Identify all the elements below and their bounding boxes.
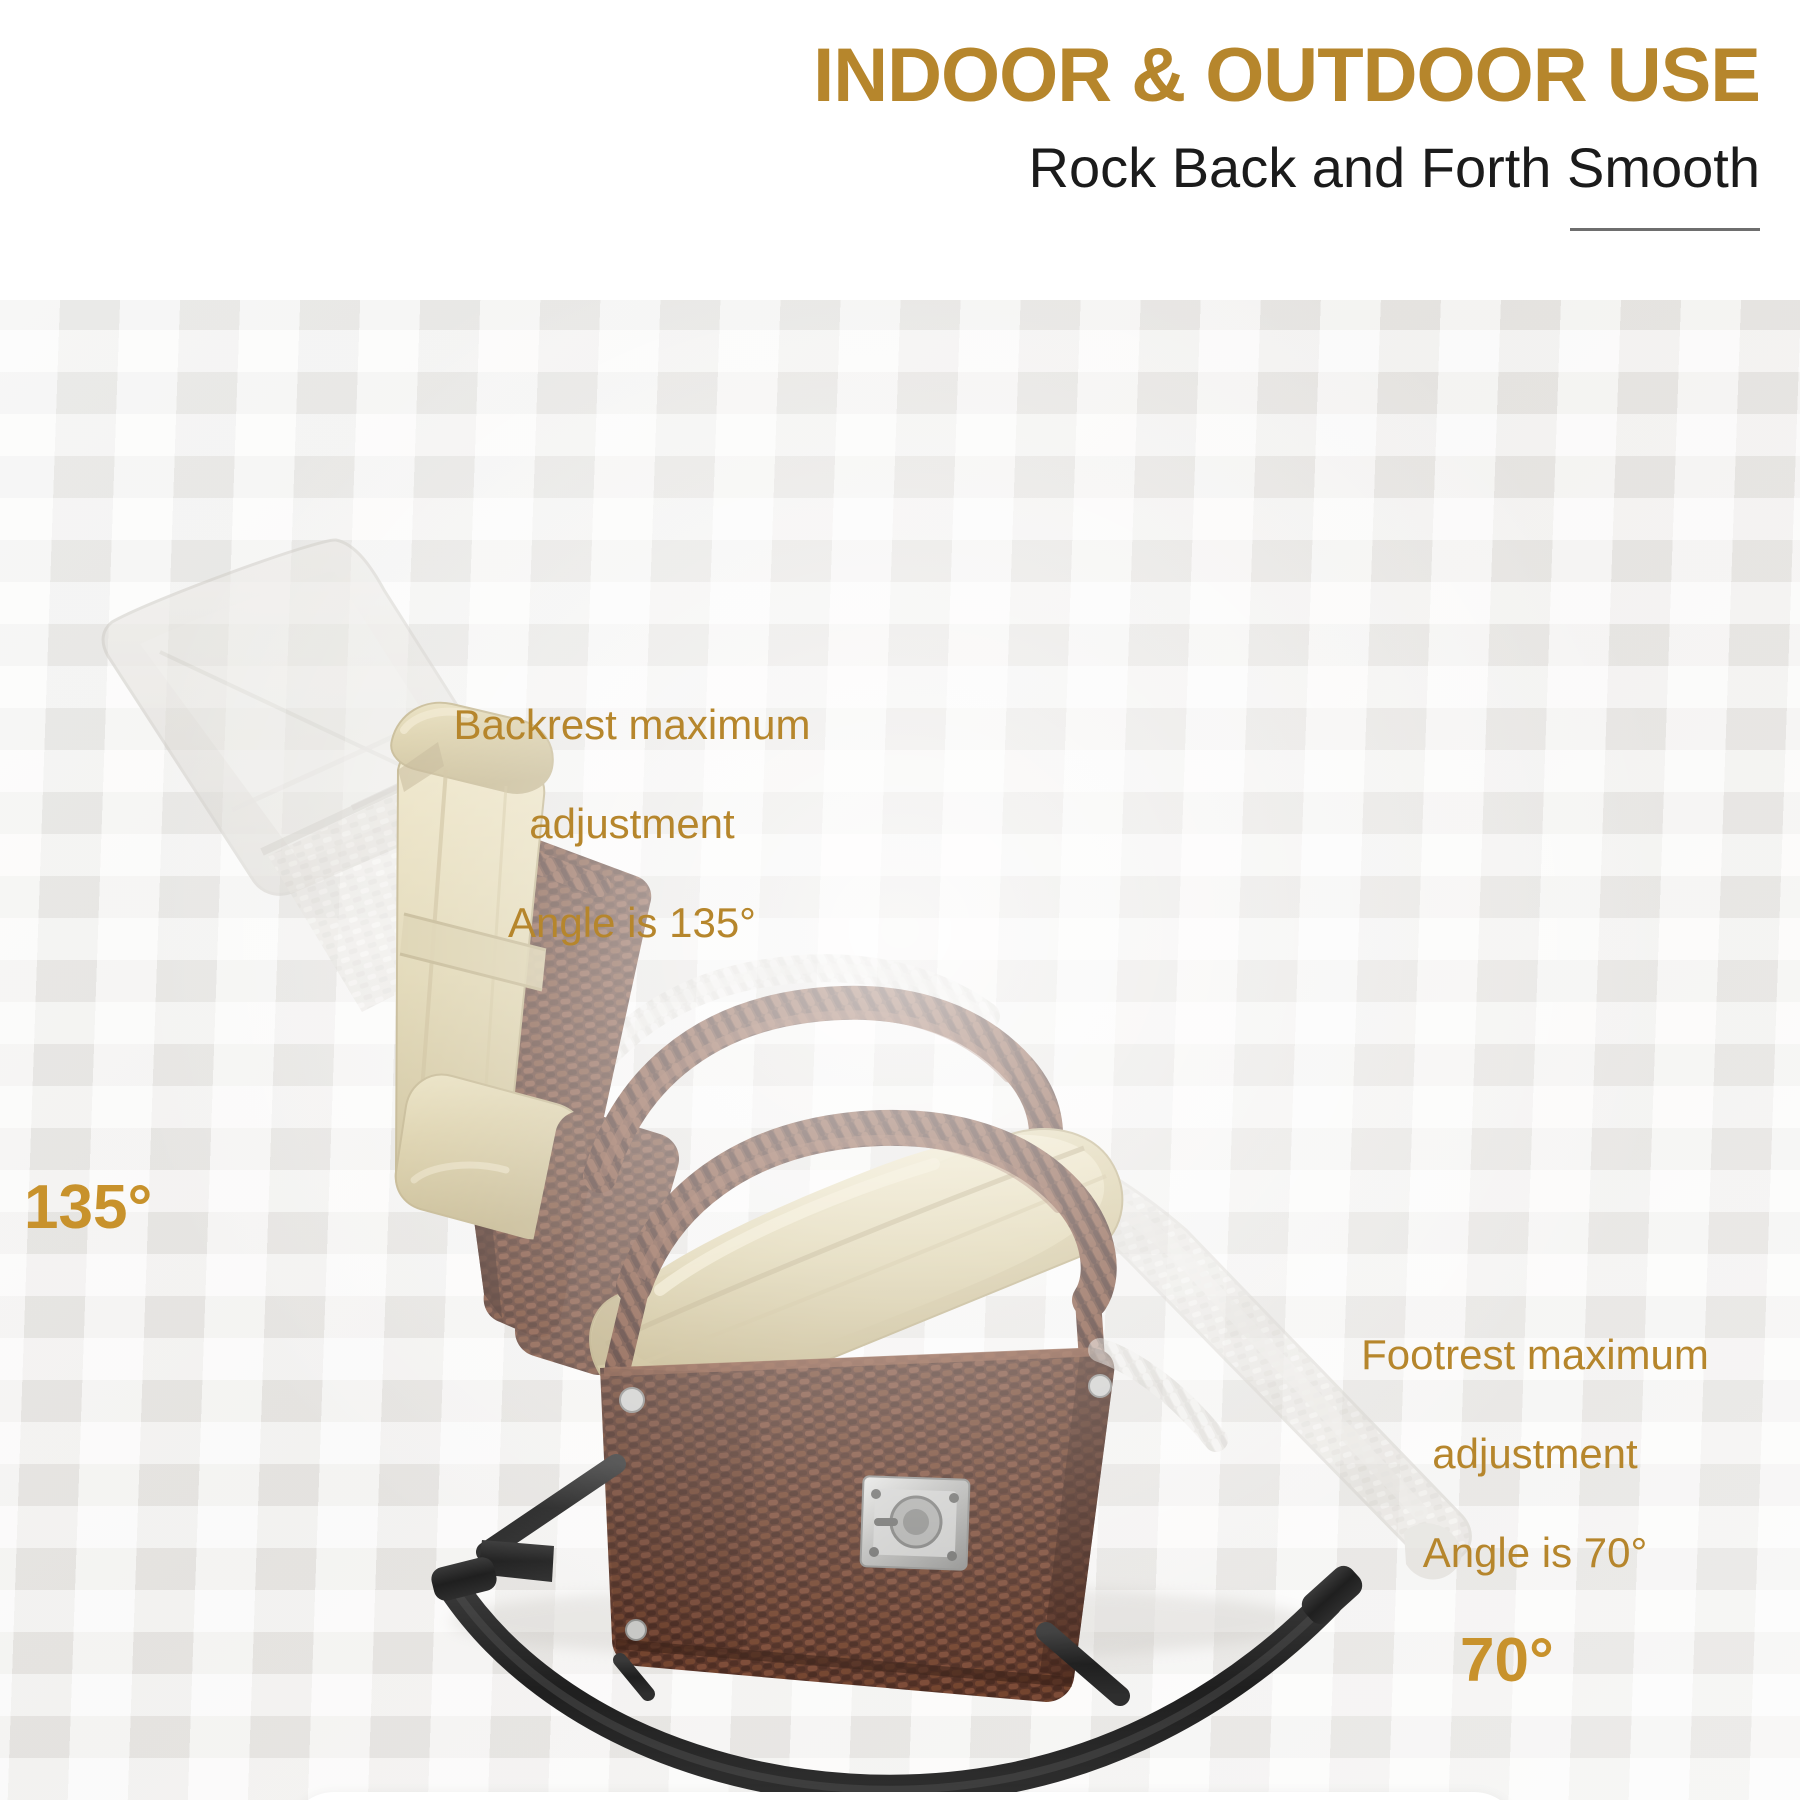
ghost-footrest-hinge (1100, 1350, 1216, 1440)
header-divider-rule (1570, 228, 1760, 231)
annotation-footrest: Footrest maximum adjustment Angle is 70° (1275, 1280, 1795, 1627)
annotation-backrest-line1: Backrest maximum (392, 700, 872, 750)
angle-label-footrest: 70° (1460, 1625, 1554, 1696)
adjustment-knob (860, 1476, 969, 1570)
annotation-footrest-line2: adjustment (1275, 1429, 1795, 1479)
annotation-footrest-line3: Angle is 70° (1275, 1528, 1795, 1578)
product-photo-stage: Backrest maximum adjustment Angle is 135… (0, 300, 1800, 1800)
page-title: INDOOR & OUTDOOR USE (813, 38, 1760, 114)
header-band: INDOOR & OUTDOOR USE Rock Back and Forth… (0, 0, 1800, 300)
infographic-page: INDOOR & OUTDOOR USE Rock Back and Forth… (0, 0, 1800, 1800)
annotation-footrest-line1: Footrest maximum (1275, 1330, 1795, 1380)
annotation-backrest-line3: Angle is 135° (392, 898, 872, 948)
annotation-backrest: Backrest maximum adjustment Angle is 135… (392, 650, 872, 997)
bottom-banner: Provide you hours of cosy lounging time (288, 1792, 1520, 1800)
page-subtitle: Rock Back and Forth Smooth (1029, 140, 1760, 196)
annotation-backrest-line2: adjustment (392, 799, 872, 849)
angle-label-backrest: 135° (24, 1172, 152, 1243)
seat-wicker-body (600, 1348, 1114, 1702)
